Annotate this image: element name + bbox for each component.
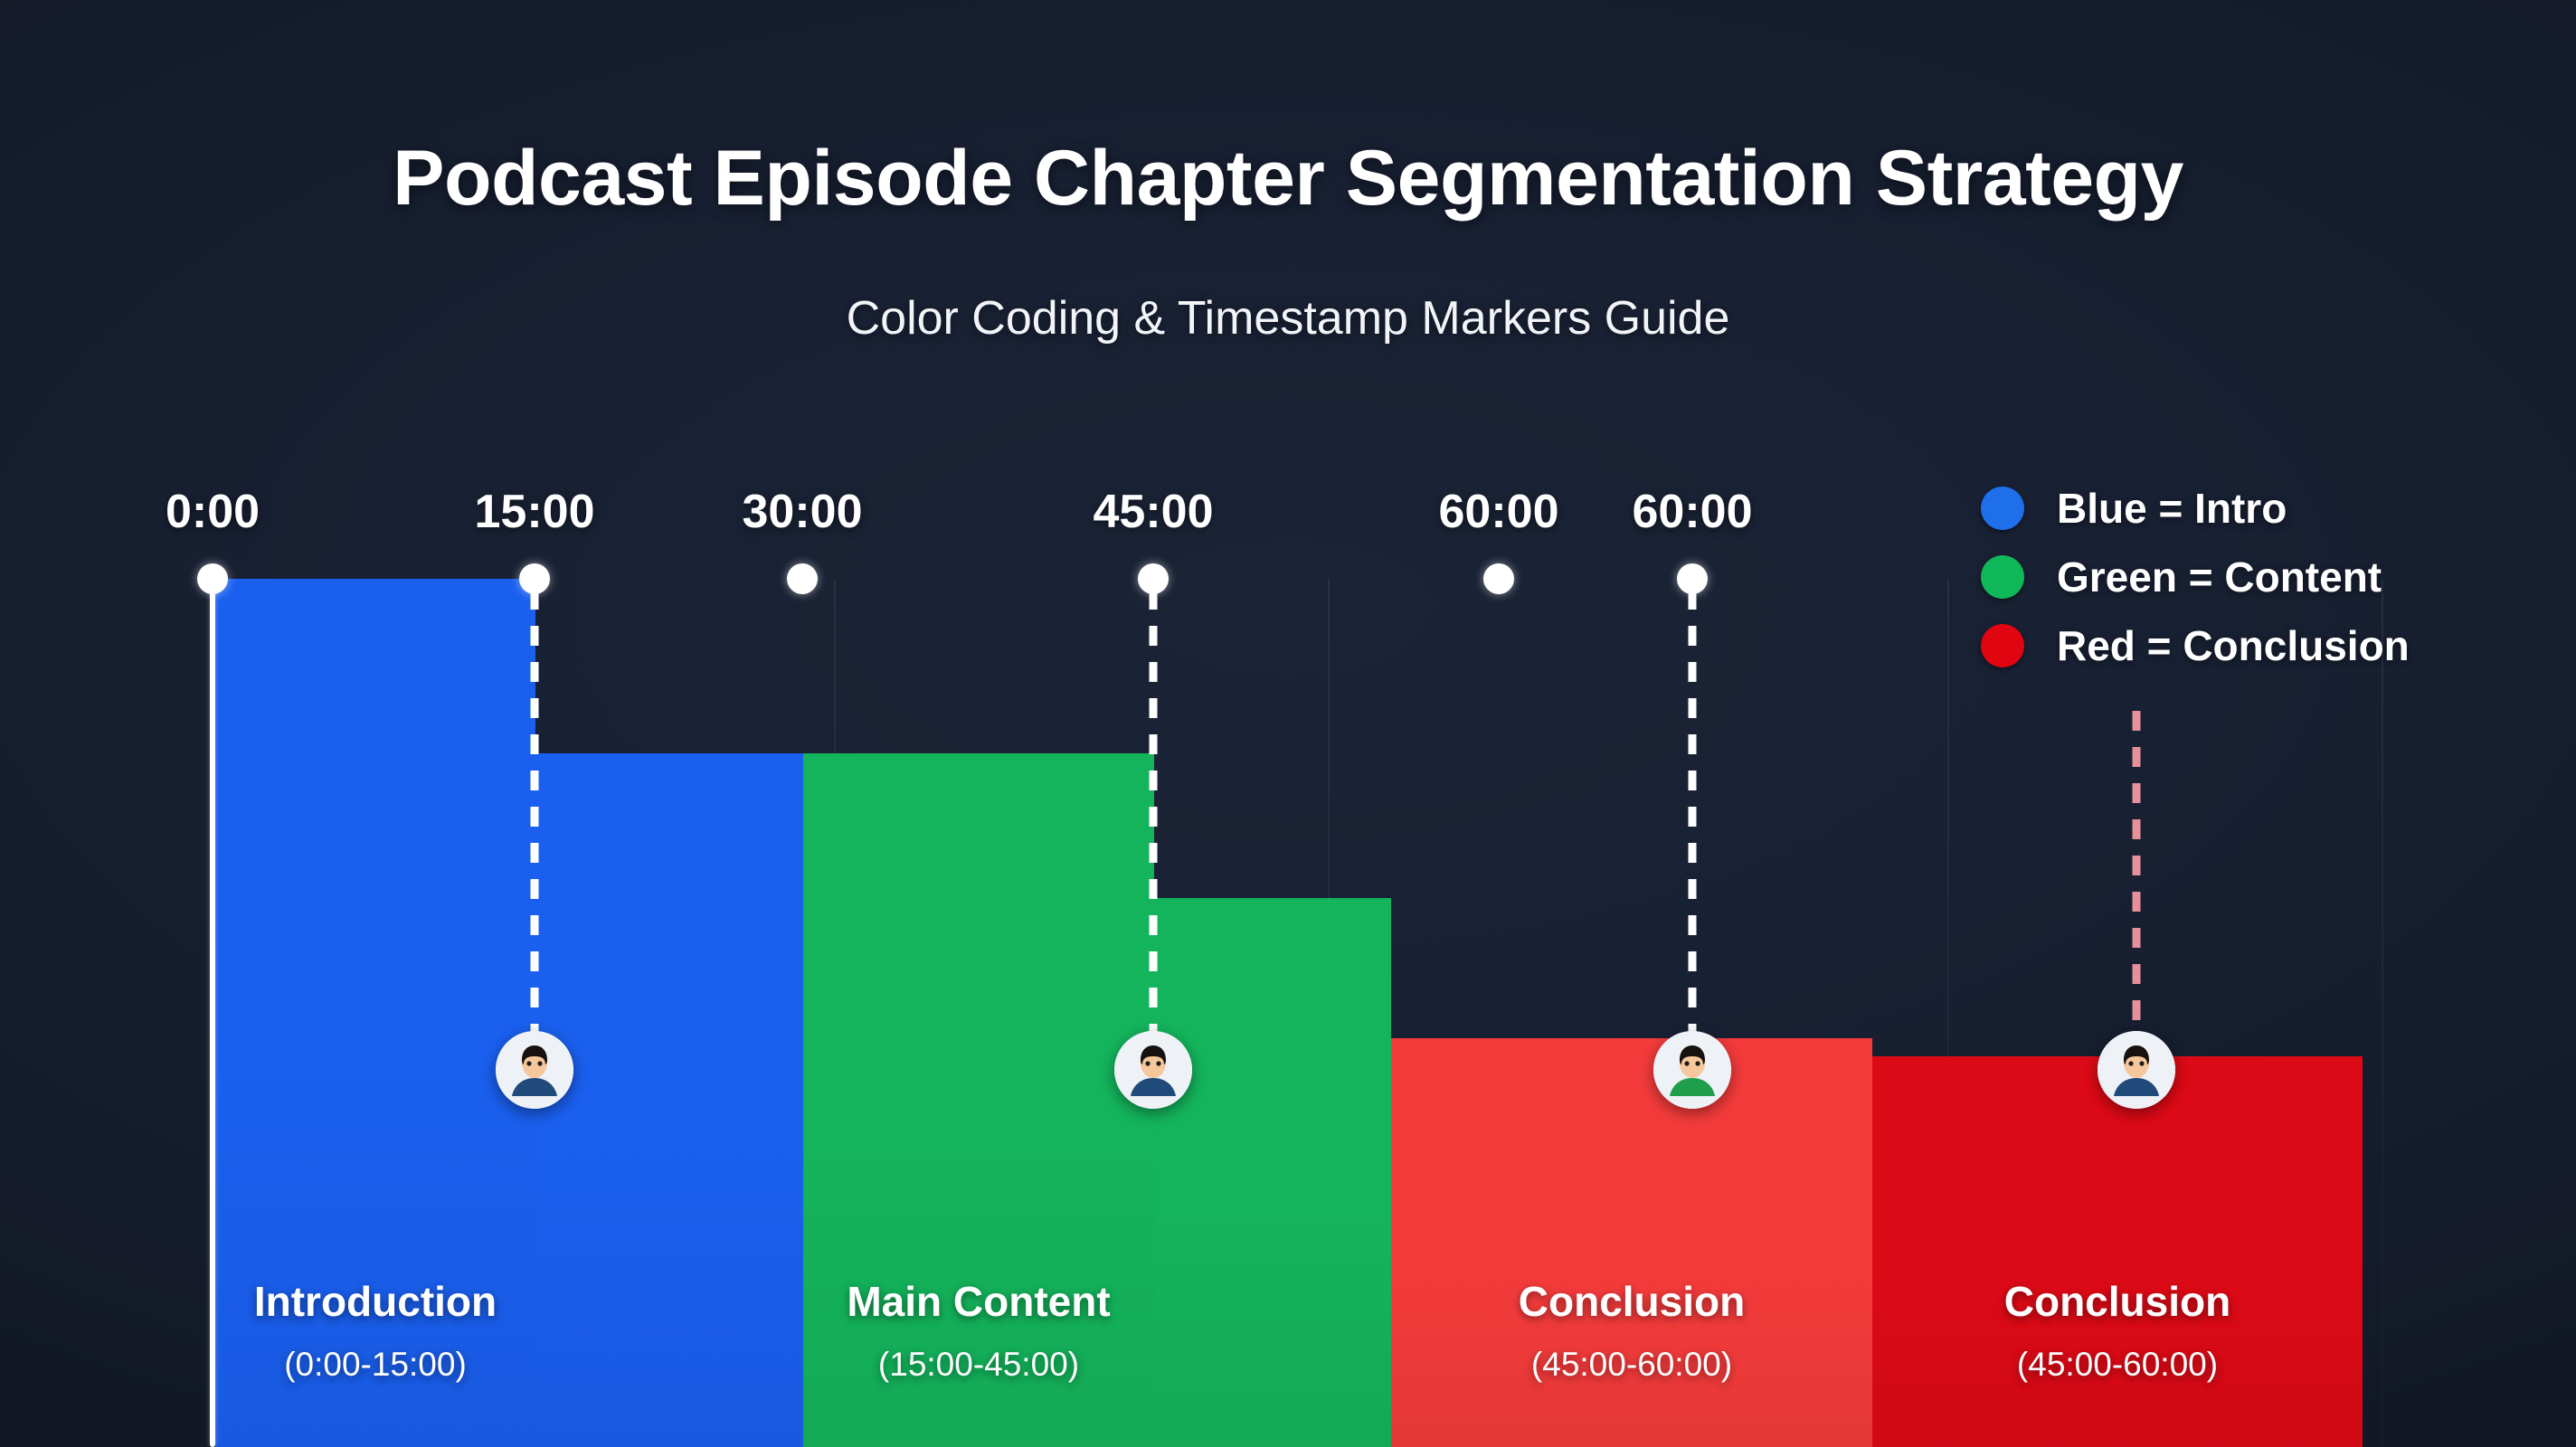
person-icon	[496, 1031, 573, 1109]
bar-segment[interactable]	[535, 753, 803, 1447]
timestamp-tick-dot[interactable]	[197, 563, 228, 594]
legend-item[interactable]: Red = Conclusion	[1981, 611, 2410, 680]
legend-label: Green = Content	[2057, 553, 2382, 601]
bar-segment[interactable]: Conclusion(45:00-60:00)	[1391, 1038, 1872, 1447]
timestamp-tick-dot[interactable]	[1483, 563, 1514, 594]
avatar-ring	[496, 1031, 573, 1109]
bar-range-label: (15:00-45:00)	[803, 1346, 1154, 1384]
legend-color-swatch	[1981, 624, 2024, 667]
bar-label: Conclusion	[1872, 1277, 2363, 1326]
timestamp-marker-line	[1689, 590, 1697, 1065]
timestamp-tick-label[interactable]: 60:00	[1439, 485, 1559, 539]
bar-segment[interactable]	[1154, 898, 1391, 1447]
bar-chart-plot: Introduction(0:00-15:00)Main Content(15:…	[0, 0, 2576, 1447]
avatar[interactable]	[1114, 1031, 1192, 1109]
avatar[interactable]	[2098, 1031, 2175, 1109]
avatar-ring	[2098, 1031, 2175, 1109]
bar-label: Introduction	[215, 1277, 535, 1326]
bar-range-label: (0:00-15:00)	[215, 1346, 535, 1384]
person-icon	[2098, 1031, 2175, 1109]
chart-canvas: Podcast Episode Chapter Segmentation Str…	[0, 0, 2576, 1447]
timestamp-tick-label[interactable]: 30:00	[743, 485, 863, 539]
bar-range-label: (45:00-60:00)	[1391, 1346, 1872, 1384]
timestamp-marker-line	[2133, 711, 2141, 1065]
legend-item[interactable]: Blue = Intro	[1981, 474, 2410, 543]
timestamp-tick-label[interactable]: 15:00	[475, 485, 595, 539]
bar-label: Main Content	[803, 1277, 1154, 1326]
legend-color-swatch	[1981, 487, 2024, 530]
bar-segment[interactable]: Main Content(15:00-45:00)	[803, 753, 1154, 1447]
avatar-ring	[1653, 1031, 1731, 1109]
bar-segment[interactable]: Conclusion(45:00-60:00)	[1872, 1056, 2363, 1447]
legend-label: Red = Conclusion	[2057, 621, 2410, 670]
avatar[interactable]	[1653, 1031, 1731, 1109]
timestamp-tick-label[interactable]: 0:00	[166, 485, 260, 539]
bar-label: Conclusion	[1391, 1277, 1872, 1326]
timestamp-marker-line	[1150, 590, 1158, 1065]
timestamp-tick-dot[interactable]	[787, 563, 818, 594]
chart-legend: Blue = IntroGreen = ContentRed = Conclus…	[1981, 474, 2410, 680]
timestamp-marker-line	[531, 590, 539, 1065]
timestamp-tick-label[interactable]: 60:00	[1633, 485, 1753, 539]
bar-range-label: (45:00-60:00)	[1872, 1346, 2363, 1384]
avatar[interactable]	[496, 1031, 573, 1109]
person-icon	[1653, 1031, 1731, 1109]
timestamp-tick-label[interactable]: 45:00	[1094, 485, 1214, 539]
legend-label: Blue = Intro	[2057, 484, 2287, 533]
legend-color-swatch	[1981, 555, 2024, 599]
legend-item[interactable]: Green = Content	[1981, 543, 2410, 611]
y-axis-line	[210, 579, 215, 1447]
bar-segment[interactable]: Introduction(0:00-15:00)	[215, 579, 535, 1447]
person-icon	[1114, 1031, 1192, 1109]
avatar-ring	[1114, 1031, 1192, 1109]
